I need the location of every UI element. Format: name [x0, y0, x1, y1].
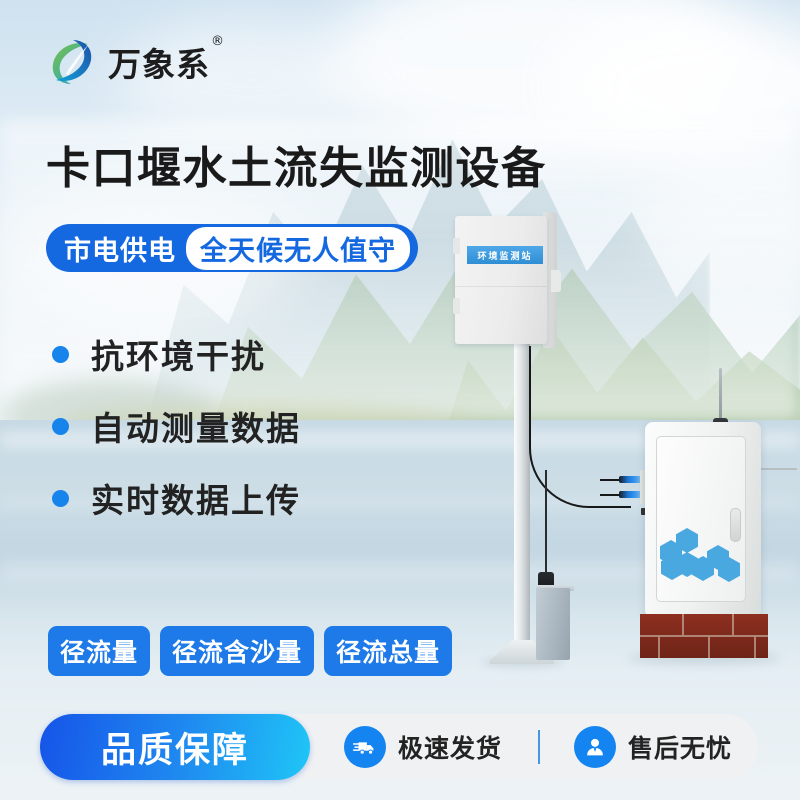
service-item-shipping: 极速发货 [344, 726, 502, 768]
brand-name-text: 万象系 [108, 45, 210, 84]
bullet-dot-icon [52, 490, 69, 507]
spec-tag: 径流含沙量 [160, 626, 314, 676]
service-label: 售后无忧 [628, 729, 732, 765]
antenna-icon [719, 368, 722, 422]
spec-tag: 径流总量 [324, 626, 452, 676]
station-lip [453, 298, 460, 314]
spec-tag: 径流量 [48, 626, 150, 676]
trademark-symbol: ® [211, 34, 225, 49]
hexagon-decal-group [660, 528, 740, 580]
cabinet-side-rod [757, 468, 797, 470]
brick-foundation [640, 614, 768, 658]
bullet-dot-icon [52, 418, 69, 435]
service-bar: 品质保障 极速发货 [40, 714, 758, 780]
station-latch-tab [551, 270, 561, 292]
bullet-dot-icon [52, 346, 69, 363]
service-item-aftersales: 售后无忧 [574, 726, 732, 768]
mounting-pole [514, 340, 530, 658]
sub-banner-secondary: 全天候无人值守 [186, 227, 410, 270]
control-cabinet [645, 422, 761, 630]
feature-label: 抗环境干扰 [91, 330, 266, 378]
feature-list: 抗环境干扰 自动测量数据 实时数据上传 [52, 318, 301, 534]
support-agent-icon [574, 726, 616, 768]
brand-logo: 万象系® [44, 34, 210, 90]
product-poster: 万象系® 卡口堰水土流失监测设备 市电供电 全天候无人值守 抗环境干扰 自动测量… [0, 0, 800, 800]
station-lip [453, 238, 460, 254]
sub-banner: 市电供电 全天候无人值守 [46, 224, 418, 272]
feature-item: 实时数据上传 [52, 462, 301, 534]
feature-label: 实时数据上传 [91, 474, 301, 522]
quality-label: 品质保障 [101, 722, 249, 773]
delivery-truck-icon [344, 726, 386, 768]
station-name-banner: 环境监测站 [467, 246, 543, 264]
feature-item: 自动测量数据 [52, 390, 301, 462]
spec-tag-list: 径流量 径流含沙量 径流总量 [48, 626, 452, 676]
sensor-cable [545, 470, 547, 574]
station-banner-label: 环境监测站 [477, 249, 532, 262]
swirl-sphere-logo-icon [44, 34, 100, 90]
service-divider [538, 730, 540, 764]
station-front-panel [455, 216, 547, 344]
service-label: 极速发货 [398, 729, 502, 765]
quality-badge: 品质保障 [40, 714, 310, 780]
brand-name: 万象系® [108, 38, 210, 86]
monitoring-station-enclosure: 环境监测站 [455, 212, 565, 352]
feature-label: 自动测量数据 [91, 402, 301, 450]
station-seam [455, 286, 547, 287]
junction-box [536, 588, 570, 660]
sub-banner-primary: 市电供电 [64, 229, 176, 268]
feature-item: 抗环境干扰 [52, 318, 301, 390]
page-title: 卡口堰水土流失监测设备 [46, 132, 547, 196]
